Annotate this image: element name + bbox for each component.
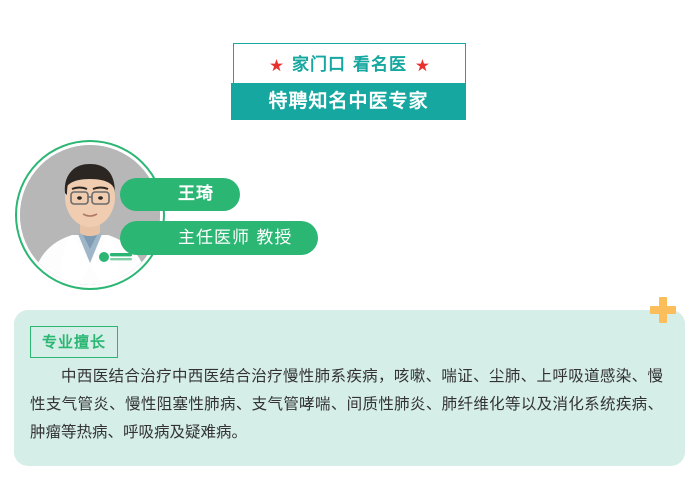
doctor-title: 主任医师 教授 xyxy=(178,230,292,247)
header-outline-text: 家门口 看名医 xyxy=(292,57,407,74)
avatar-ring xyxy=(15,140,165,290)
header-outline-box: 家门口 看名医 xyxy=(233,43,466,88)
star-icon xyxy=(270,59,283,72)
header-block: 家门口 看名医 特聘知名中医专家 xyxy=(233,43,466,120)
doctor-name: 王琦 xyxy=(178,186,214,203)
specialty-panel: 专业擅长 中西医结合治疗中西医结合治疗慢性肺系疾病，咳嗽、喘证、尘肺、上呼吸道感… xyxy=(14,310,685,466)
header-banner: 特聘知名中医专家 xyxy=(231,83,466,120)
header-banner-text: 特聘知名中医专家 xyxy=(268,92,428,111)
specialty-tag-label: 专业擅长 xyxy=(42,333,106,351)
star-icon xyxy=(416,59,429,72)
doctor-title-pill: 主任医师 教授 xyxy=(120,221,318,255)
specialty-tag: 专业擅长 xyxy=(30,326,118,358)
expert-profile-card: 家门口 看名医 特聘知名中医专家 xyxy=(0,0,699,486)
specialty-description: 中西医结合治疗中西医结合治疗慢性肺系疾病，咳嗽、喘证、尘肺、上呼吸道感染、慢性支… xyxy=(30,362,663,446)
doctor-name-badge: 王琦 xyxy=(120,178,240,211)
plus-decoration-icon xyxy=(650,297,676,323)
avatar xyxy=(15,140,165,290)
